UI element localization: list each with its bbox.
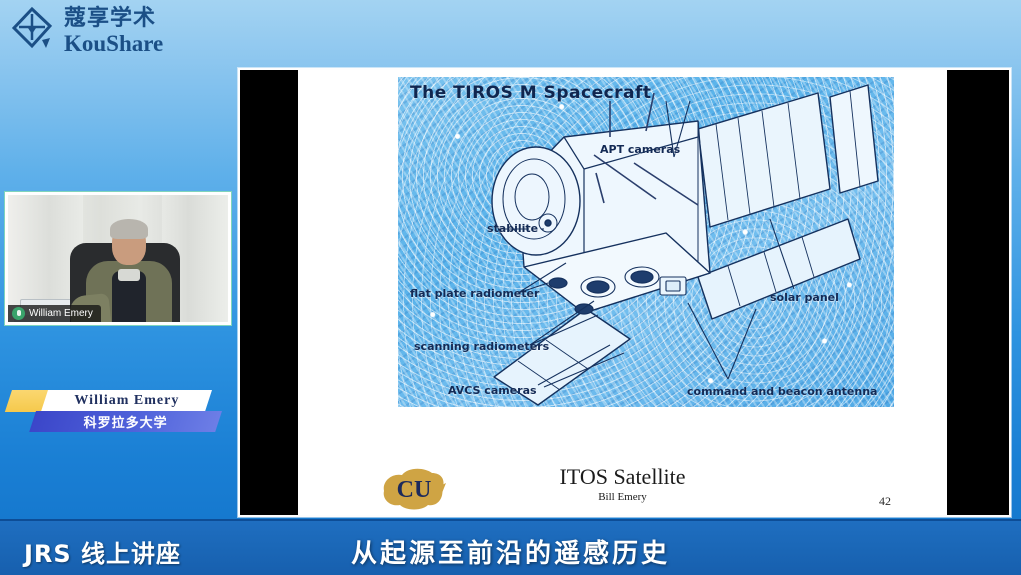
- label-avcs-cameras: AVCS cameras: [448, 384, 537, 397]
- shared-slide-frame[interactable]: The TIROS M Spacecraft APT cameras stabi…: [238, 68, 1011, 517]
- spacecraft-line-art: [398, 77, 894, 407]
- brand-name-en: KouShare: [64, 32, 163, 55]
- microphone-icon: [12, 307, 25, 320]
- slide-title: ITOS Satellite: [298, 464, 947, 490]
- speaker-name-banner: William Emery 科罗拉多大学: [12, 390, 208, 432]
- live-stream-viewport: 蔻享学术 KouShare William Emery William Emer…: [0, 0, 1021, 575]
- label-scanning-radiometers: scanning radiometers: [414, 340, 549, 353]
- slide-page-number: 42: [879, 494, 891, 509]
- speaker-name: William Emery: [74, 393, 179, 409]
- slide-author: Bill Emery: [298, 491, 947, 503]
- label-solar-panel: solar panel: [770, 291, 839, 304]
- banner-name-strip: William Emery: [41, 390, 212, 412]
- label-stabilite: stabilite: [487, 222, 538, 235]
- slide-canvas: The TIROS M Spacecraft APT cameras stabi…: [298, 70, 947, 515]
- letterbox-right: [947, 70, 1009, 515]
- brand-name-cn: 蔻享学术: [64, 8, 163, 30]
- video-name-chip: William Emery: [8, 305, 101, 322]
- label-command-beacon-antenna: command and beacon antenna: [687, 385, 877, 398]
- diagram-title: The TIROS M Spacecraft: [410, 83, 652, 103]
- label-flat-plate-radiometer: flat plate radiometer: [410, 287, 539, 300]
- speaker-affiliation: 科罗拉多大学: [84, 412, 168, 431]
- banner-affiliation-strip: 科罗拉多大学: [29, 411, 222, 432]
- video-speaker-collar: [118, 269, 140, 281]
- video-participant-name: William Emery: [29, 308, 93, 319]
- lecture-title-caption: 从起源至前沿的遥感历史: [0, 533, 1021, 570]
- bottom-caption-bar: JRS 线上讲座 从起源至前沿的遥感历史: [0, 519, 1021, 575]
- tiros-m-spacecraft-diagram: The TIROS M Spacecraft APT cameras stabi…: [398, 77, 894, 407]
- letterbox-left: [240, 70, 298, 515]
- speaker-video-tile[interactable]: William Emery: [5, 192, 231, 325]
- video-speaker-hair: [110, 219, 148, 239]
- brand-logo[interactable]: 蔻享学术 KouShare: [8, 4, 163, 56]
- koushare-diamond-icon: [8, 4, 56, 56]
- label-apt-cameras: APT cameras: [600, 143, 680, 156]
- brand-text: 蔻享学术 KouShare: [64, 6, 163, 55]
